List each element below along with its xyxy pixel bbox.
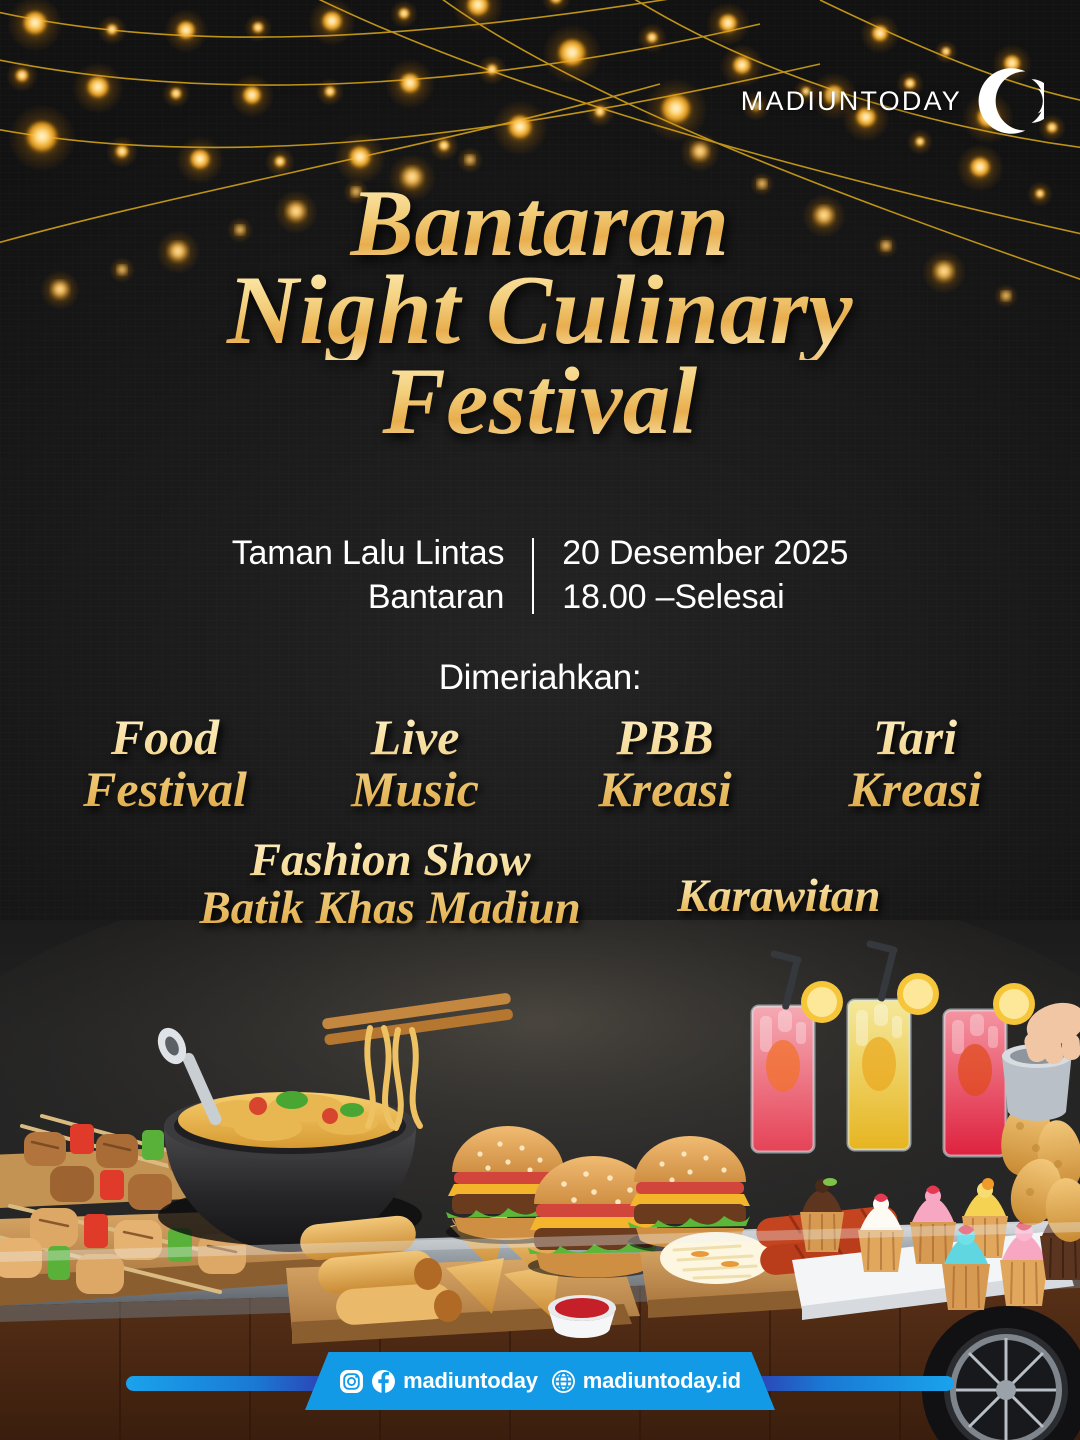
lineup-heading: Dimeriahkan: — [0, 658, 1080, 698]
website-group[interactable]: madiuntoday.id — [551, 1368, 741, 1394]
lineup-item-fashion-show: Fashion Show Batik Khas Madiun — [199, 836, 580, 933]
title-line-2: Night Culinary — [0, 262, 1080, 360]
social-footer: madiuntoday madiuntoday.id — [0, 1352, 1080, 1412]
lineup-item-line-1: PBB — [540, 712, 790, 764]
lineup-item-line-1: Live — [290, 712, 540, 764]
lineup-item-line-2: Kreasi — [540, 764, 790, 816]
lineup-item-line-2: Festival — [40, 764, 290, 816]
social-handle-group[interactable]: madiuntoday — [339, 1368, 538, 1394]
lineup-item-line-1: Food — [40, 712, 290, 764]
lineup-item-line-2: Kreasi — [790, 764, 1040, 816]
website-text: madiuntoday.id — [583, 1368, 741, 1394]
lineup-item-line-1: Tari — [790, 712, 1040, 764]
event-date: 20 Desember 2025 — [562, 532, 848, 576]
social-banner: madiuntoday madiuntoday.id — [305, 1352, 775, 1410]
instagram-icon[interactable] — [339, 1369, 364, 1394]
lineup-item-food-festival: Food Festival — [40, 712, 290, 815]
swoosh-arc-icon — [966, 62, 1044, 140]
poster-canvas: MADIUNTODAY Bantaran Night Culinary Fest… — [0, 0, 1080, 1440]
lineup-item-line-1: Fashion Show — [199, 836, 580, 884]
lineup-item-tari-kreasi: Tari Kreasi — [790, 712, 1040, 815]
social-handle-text: madiuntoday — [403, 1368, 538, 1394]
brand-logo: MADIUNTODAY — [741, 62, 1044, 140]
globe-icon[interactable] — [551, 1369, 576, 1394]
event-info: Taman Lalu Lintas Bantaran 20 Desember 2… — [0, 528, 1080, 623]
venue-block: Taman Lalu Lintas Bantaran — [232, 528, 533, 623]
lineup-item-karawitan: Karawitan — [677, 872, 881, 920]
facebook-icon[interactable] — [371, 1369, 396, 1394]
datetime-block: 20 Desember 2025 18.00 –Selesai — [534, 528, 848, 623]
lineup-item-live-music: Live Music — [290, 712, 540, 815]
title-line-3: Festival — [0, 354, 1080, 448]
lineup-row-primary: Food Festival Live Music PBB Kreasi Tari… — [40, 712, 1040, 815]
venue-line-2: Bantaran — [232, 576, 505, 620]
lineup-item-line-2: Music — [290, 764, 540, 816]
poster-title: Bantaran Night Culinary Festival — [0, 176, 1080, 448]
lineup-row-secondary: Fashion Show Batik Khas Madiun Karawitan — [0, 836, 1080, 933]
brand-logo-text: MADIUNTODAY — [741, 86, 962, 117]
venue-line-1: Taman Lalu Lintas — [232, 532, 505, 576]
lineup-item-pbb-kreasi: PBB Kreasi — [540, 712, 790, 815]
event-time: 18.00 –Selesai — [562, 576, 848, 620]
lineup-item-line-2: Batik Khas Madiun — [199, 884, 580, 932]
